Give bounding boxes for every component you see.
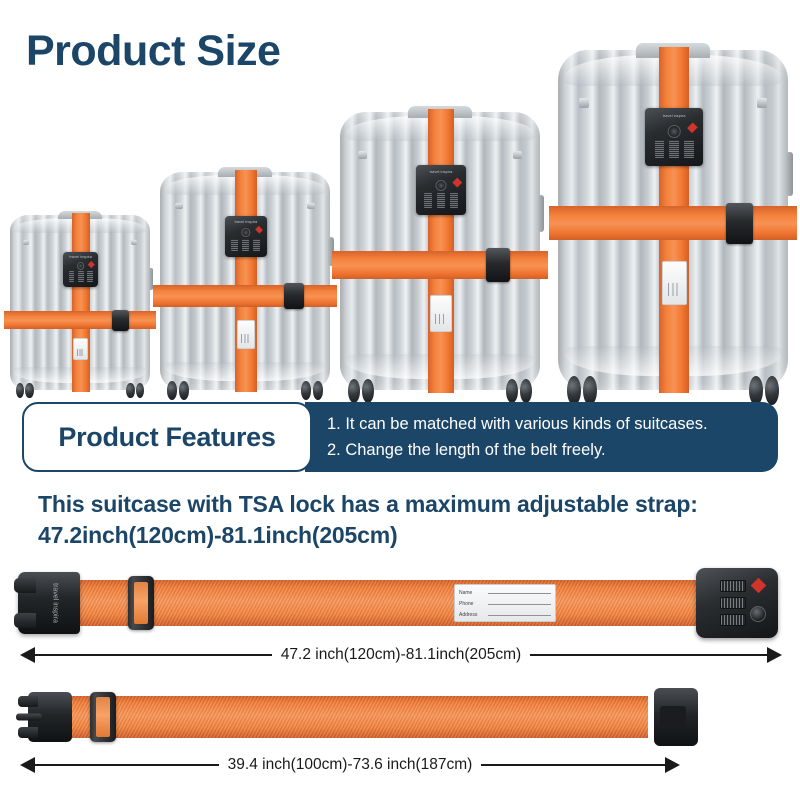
arrow-right-icon xyxy=(665,757,680,773)
belt-1-dimension-text: 47.2 inch(120cm)-81.1inch(205cm) xyxy=(272,646,530,664)
tsa-keyhole-icon xyxy=(436,180,447,191)
latch-right-icon xyxy=(757,98,767,108)
suitcase-large: travel inspira xyxy=(340,112,540,390)
vertical-strap xyxy=(235,170,257,392)
belt-end-buckle-left: travel inspira xyxy=(18,572,80,634)
tsa-keyhole-icon xyxy=(77,262,85,270)
belt-male-buckle xyxy=(654,688,698,746)
lock-dials-icon xyxy=(720,580,746,626)
id-tag-phone-label: Phone xyxy=(459,601,485,607)
tsa-indicator-icon xyxy=(687,122,698,133)
latch-left-icon xyxy=(175,203,183,210)
horizontal-strap xyxy=(549,206,797,240)
vertical-strap xyxy=(72,213,90,392)
arrow-left-icon xyxy=(20,757,35,773)
suitcase-size-comparison: travel inspira travel inspira xyxy=(0,20,800,390)
belt-2-dimension: 39.4 inch(100cm)-73.6 inch(187cm) xyxy=(20,750,680,780)
standard-belt xyxy=(18,686,698,748)
id-tag-address-row: Address xyxy=(459,610,551,620)
suitcase-id-tag xyxy=(73,338,88,361)
tsa-lock-icon: travel inspira xyxy=(225,216,268,257)
belt-adjuster-slider xyxy=(128,576,154,630)
arrow-right-icon xyxy=(767,647,782,663)
belt-adjuster-slider xyxy=(90,692,116,742)
horizontal-strap xyxy=(332,251,548,279)
horizontal-strap xyxy=(4,311,155,329)
tsa-indicator-icon xyxy=(452,177,461,186)
product-size-infographic: Product Size travel inspira xyxy=(0,0,800,800)
wheel-right xyxy=(749,376,779,405)
product-features-section: 1. It can be matched with various kinds … xyxy=(22,402,778,472)
tsa-brand-label: travel inspira xyxy=(650,114,698,122)
tsa-brand-label: travel inspira xyxy=(66,255,95,260)
strap-description: This suitcase with TSA lock has a maximu… xyxy=(38,489,778,551)
buckle-prong-icon xyxy=(16,714,42,721)
suitcase-id-tag xyxy=(430,295,452,331)
tsa-lock-icon: travel inspira xyxy=(63,252,98,287)
id-tag-name-row: Name xyxy=(459,588,551,598)
tsa-indicator-icon xyxy=(255,226,263,234)
id-tag-name-label: Name xyxy=(459,590,485,596)
dimension-line xyxy=(481,764,665,766)
latch-left-icon xyxy=(23,240,29,245)
tsa-lock-icon: travel inspira xyxy=(416,165,466,215)
wheel-right xyxy=(506,379,532,403)
lock-keyhole-icon xyxy=(750,606,766,622)
strap-buckle xyxy=(726,203,754,244)
wheel-right xyxy=(126,383,144,398)
feature-item-1: 1. It can be matched with various kinds … xyxy=(327,411,778,437)
product-features-label: Product Features xyxy=(22,402,312,472)
feature-item-2: 2. Change the length of the belt freely. xyxy=(327,437,778,463)
tsa-lock-icon: travel inspira xyxy=(645,108,703,166)
latch-right-icon xyxy=(307,203,315,210)
dimension-line xyxy=(530,654,767,656)
latch-left-icon xyxy=(579,98,589,108)
dimension-line xyxy=(35,654,272,656)
tsa-lock-belt: travel inspira Name Phone Address xyxy=(18,566,782,640)
wheel-left xyxy=(348,379,374,403)
side-handle xyxy=(538,195,544,231)
strap-buckle xyxy=(486,248,510,281)
latch-left-icon xyxy=(358,151,367,159)
wheel-left xyxy=(567,376,597,405)
latch-right-icon xyxy=(513,151,522,159)
tsa-indicator-icon xyxy=(89,261,95,267)
latch-right-icon xyxy=(131,240,137,245)
belt-1-dimension: 47.2 inch(120cm)-81.1inch(205cm) xyxy=(20,640,782,670)
tsa-combination-lock-icon xyxy=(696,568,778,638)
side-handle xyxy=(786,152,793,196)
dimension-line xyxy=(35,764,219,766)
lock-indicator-icon xyxy=(751,578,767,594)
strap-buckle xyxy=(112,310,129,331)
strap-buckle xyxy=(284,283,304,309)
tsa-brand-label: travel inspira xyxy=(420,170,462,177)
description-line-2: 47.2inch(120cm)-81.1inch(205cm) xyxy=(38,520,778,551)
tsa-keyhole-icon xyxy=(668,125,681,138)
features-list-panel: 1. It can be matched with various kinds … xyxy=(305,402,778,472)
tsa-keyhole-icon xyxy=(241,228,250,237)
tsa-dials-icon xyxy=(231,239,260,251)
id-tag-phone-row: Phone xyxy=(459,599,551,609)
horizontal-strap xyxy=(153,285,337,307)
suitcase-medium: travel inspira xyxy=(160,172,330,390)
tsa-dials-icon xyxy=(424,193,458,208)
id-tag-address-label: Address xyxy=(459,612,485,618)
suitcase-small: travel inspira xyxy=(10,215,150,390)
wheel-left xyxy=(167,381,189,400)
suitcase-id-tag xyxy=(662,261,687,305)
suitcase-id-tag xyxy=(237,320,256,348)
tsa-dials-icon xyxy=(69,271,93,282)
arrow-left-icon xyxy=(20,647,35,663)
wheel-right xyxy=(301,381,323,400)
suitcase-extra-large: travel inspira xyxy=(558,50,788,390)
description-line-1: This suitcase with TSA lock has a maximu… xyxy=(38,489,778,520)
wheel-left xyxy=(16,383,34,398)
belt-2-dimension-text: 39.4 inch(100cm)-73.6 inch(187cm) xyxy=(219,756,482,774)
tsa-dials-icon xyxy=(655,140,694,157)
brand-label: travel inspira xyxy=(52,583,59,623)
belt-id-tag: Name Phone Address xyxy=(454,584,556,622)
belt-webbing xyxy=(58,696,648,738)
product-features-label-text: Product Features xyxy=(58,422,275,453)
